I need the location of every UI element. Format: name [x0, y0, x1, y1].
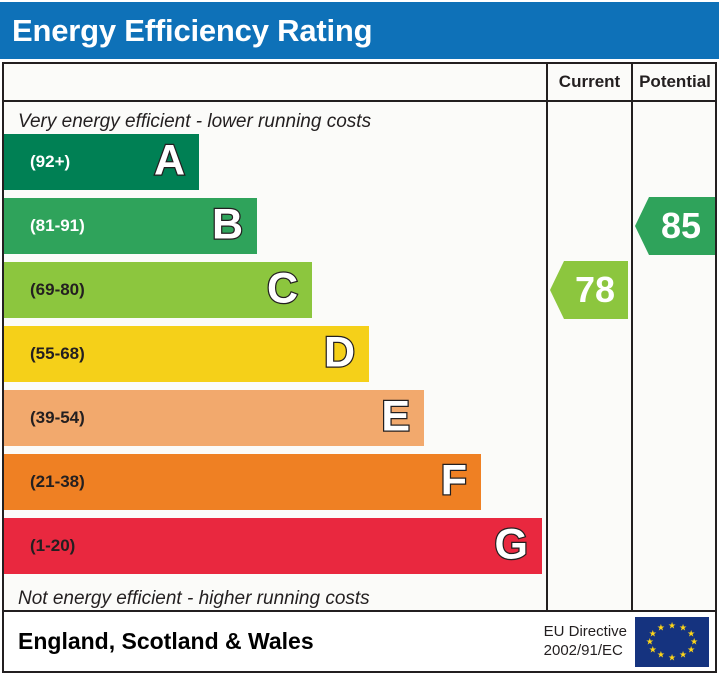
- header-row-divider: [4, 100, 715, 102]
- band-letter-b: B: [212, 204, 243, 247]
- eu-flag-star-icon: ★: [668, 653, 676, 662]
- band-row-e: (39-54)E: [4, 390, 424, 446]
- page-title: Energy Efficiency Rating: [0, 13, 372, 49]
- band-row-f: (21-38)F: [4, 454, 481, 510]
- band-letter-f: F: [441, 460, 467, 503]
- eu-flag-star-icon: ★: [687, 645, 695, 654]
- band-range-g: (1-20): [4, 536, 75, 556]
- column-header-current: Current: [548, 64, 631, 100]
- eu-flag-star-icon: ★: [646, 637, 654, 646]
- eu-flag-star-icon: ★: [668, 621, 676, 630]
- band-row-g: (1-20)G: [4, 518, 542, 574]
- band-range-e: (39-54): [4, 408, 85, 428]
- potential-rating-marker: 85: [635, 197, 715, 255]
- energy-efficiency-rating-chart: Energy Efficiency Rating Current Potenti…: [0, 0, 719, 675]
- band-range-f: (21-38): [4, 472, 85, 492]
- eu-flag-icon: ★★★★★★★★★★★★: [635, 617, 709, 667]
- band-row-d: (55-68)D: [4, 326, 369, 382]
- potential-rating-value: 85: [649, 208, 701, 244]
- band-row-c: (69-80)C: [4, 262, 312, 318]
- eu-flag-star-icon: ★: [649, 645, 657, 654]
- column-divider-potential: [631, 64, 633, 610]
- band-range-a: (92+): [4, 152, 70, 172]
- column-divider-current: [546, 64, 548, 610]
- footer-directive-group: EU Directive 2002/91/EC ★★★★★★★★★★★★: [544, 612, 709, 671]
- chart-title-bar: Energy Efficiency Rating: [0, 2, 719, 59]
- band-row-b: (81-91)B: [4, 198, 257, 254]
- band-range-d: (55-68): [4, 344, 85, 364]
- band-letter-g: G: [495, 524, 528, 567]
- eu-directive-text: EU Directive 2002/91/EC: [544, 623, 627, 661]
- current-rating-marker: 78: [550, 261, 628, 319]
- caption-efficient: Very energy efficient - lower running co…: [18, 111, 371, 133]
- band-row-a: (92+)A: [4, 134, 199, 190]
- band-letter-c: C: [267, 268, 298, 311]
- band-letter-e: E: [381, 396, 410, 439]
- eu-flag-star-icon: ★: [657, 623, 665, 632]
- chart-footer: England, Scotland & Wales EU Directive 2…: [2, 612, 717, 673]
- eu-flag-star-icon: ★: [649, 629, 657, 638]
- caption-inefficient: Not energy efficient - higher running co…: [18, 588, 370, 610]
- eu-flag-star-icon: ★: [679, 651, 687, 660]
- band-list: (92+)A(81-91)B(69-80)C(55-68)D(39-54)E(2…: [4, 134, 544, 582]
- band-range-b: (81-91): [4, 216, 85, 236]
- column-header-potential: Potential: [633, 64, 717, 100]
- eu-flag-star-icon: ★: [657, 651, 665, 660]
- band-range-c: (69-80): [4, 280, 85, 300]
- rating-table: Current Potential Very energy efficient …: [2, 62, 717, 612]
- footer-region-label: England, Scotland & Wales: [4, 628, 314, 655]
- eu-directive-line2: 2002/91/EC: [544, 642, 627, 661]
- eu-directive-line1: EU Directive: [544, 623, 627, 642]
- current-rating-value: 78: [563, 272, 615, 308]
- band-letter-a: A: [154, 140, 185, 183]
- eu-flag-star-icon: ★: [679, 623, 687, 632]
- band-letter-d: D: [324, 332, 355, 375]
